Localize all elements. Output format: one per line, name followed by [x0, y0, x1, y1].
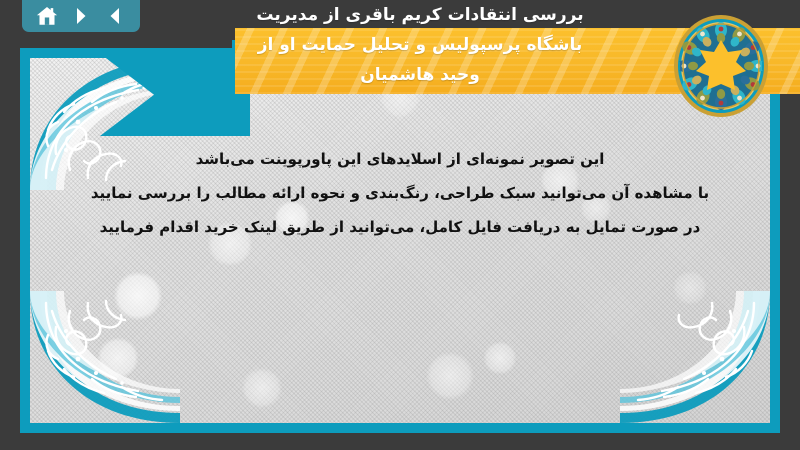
- chevron-right-icon: [72, 6, 90, 26]
- navigation-bar: [22, 0, 140, 32]
- title-line-1: بررسی انتقادات کریم باقری از مدیریت: [180, 0, 660, 30]
- slide-root: این تصویر نمونه‌ای از اسلایدهای این پاور…: [0, 0, 800, 450]
- home-button[interactable]: [34, 3, 60, 29]
- forward-button[interactable]: [68, 3, 94, 29]
- corner-ornament-bottom-left: [30, 291, 180, 423]
- chevron-left-icon: [106, 6, 124, 26]
- back-button[interactable]: [102, 3, 128, 29]
- content-card: این تصویر نمونه‌ای از اسلایدهای این پاور…: [20, 48, 780, 433]
- body-line-1: این تصویر نمونه‌ای از اسلایدهای این پاور…: [52, 142, 748, 176]
- persian-medallion-ornament: [672, 14, 770, 118]
- content-surface: این تصویر نمونه‌ای از اسلایدهای این پاور…: [30, 58, 770, 423]
- home-icon: [36, 5, 58, 27]
- corner-ornament-bottom-right: [620, 291, 770, 423]
- body-line-2: با مشاهده آن می‌توانید سبک طراحی، رنگ‌بن…: [52, 176, 748, 210]
- body-text: این تصویر نمونه‌ای از اسلایدهای این پاور…: [30, 142, 770, 244]
- body-line-3: در صورت تمایل به دریافت فایل کامل، می‌تو…: [52, 210, 748, 244]
